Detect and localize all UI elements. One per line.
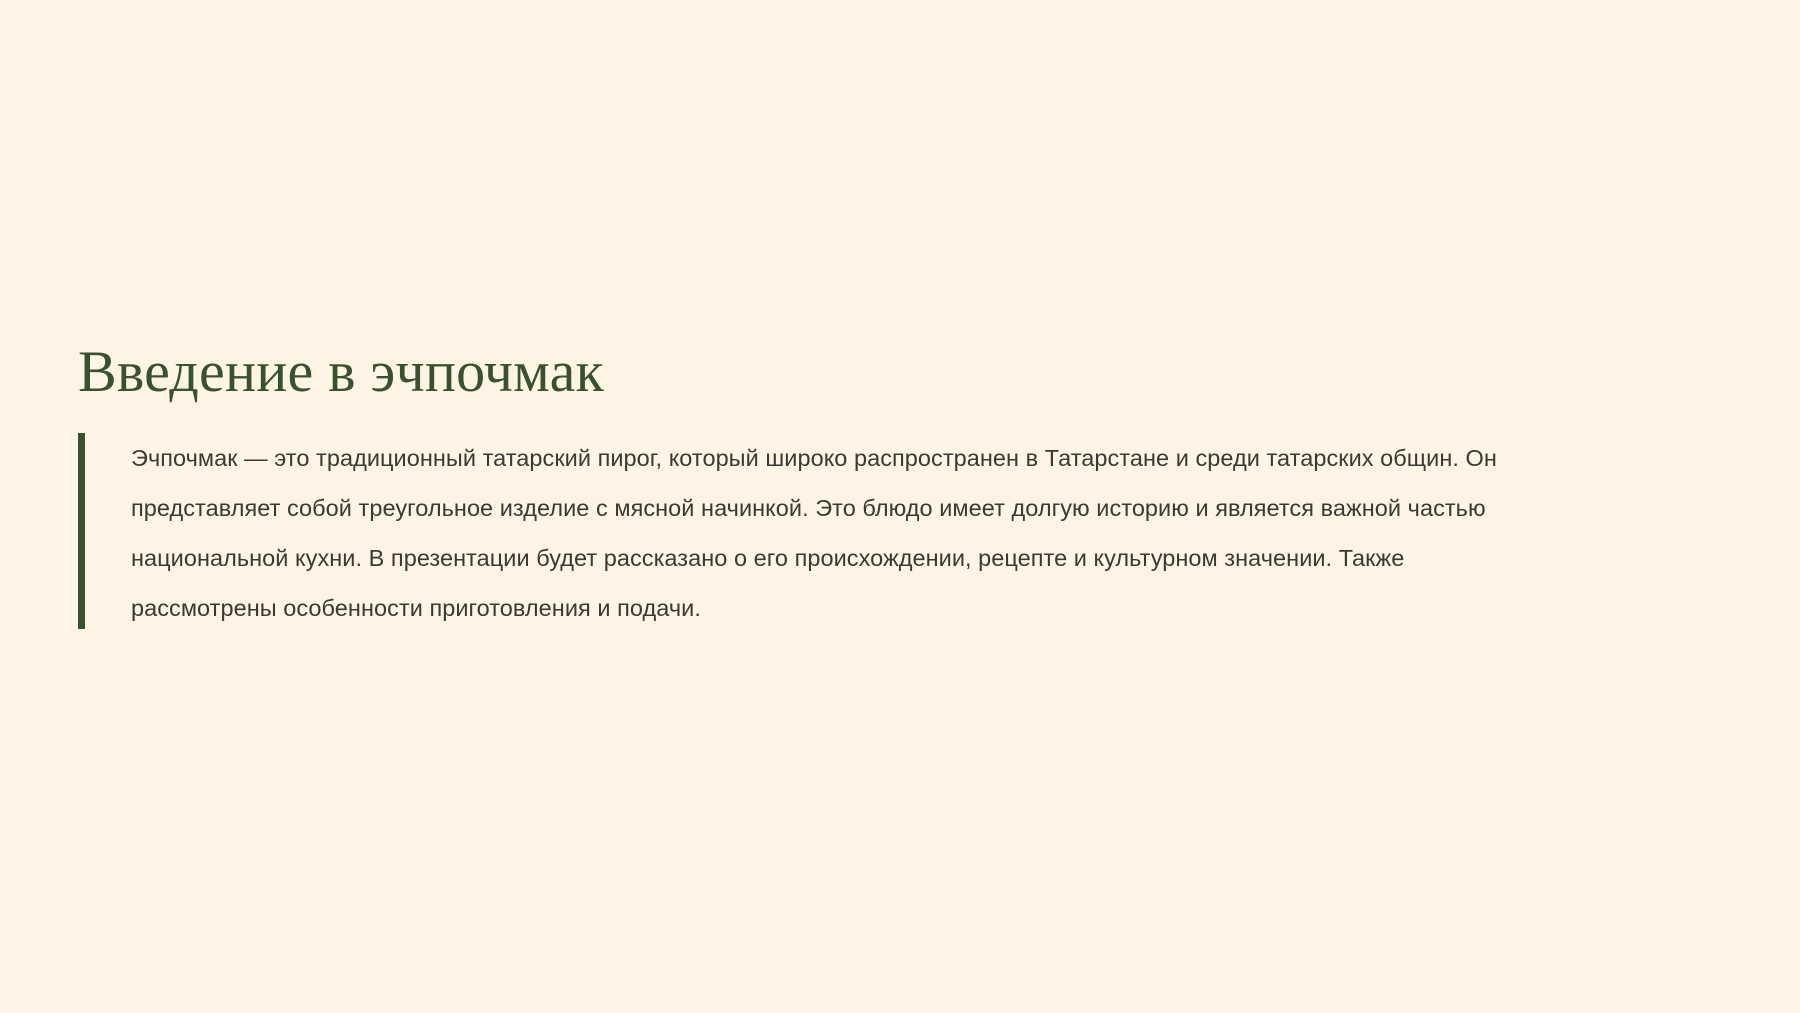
- body-quote-block: Эчпочмак — это традиционный татарский пи…: [78, 433, 1718, 633]
- left-accent-bar: [78, 433, 85, 629]
- body-paragraph: Эчпочмак — это традиционный татарский пи…: [131, 433, 1521, 633]
- page-title: Введение в эчпочмак: [78, 340, 1718, 405]
- slide-content-block: Введение в эчпочмак Эчпочмак — это тради…: [78, 340, 1718, 633]
- presentation-slide: Введение в эчпочмак Эчпочмак — это тради…: [0, 0, 1800, 1013]
